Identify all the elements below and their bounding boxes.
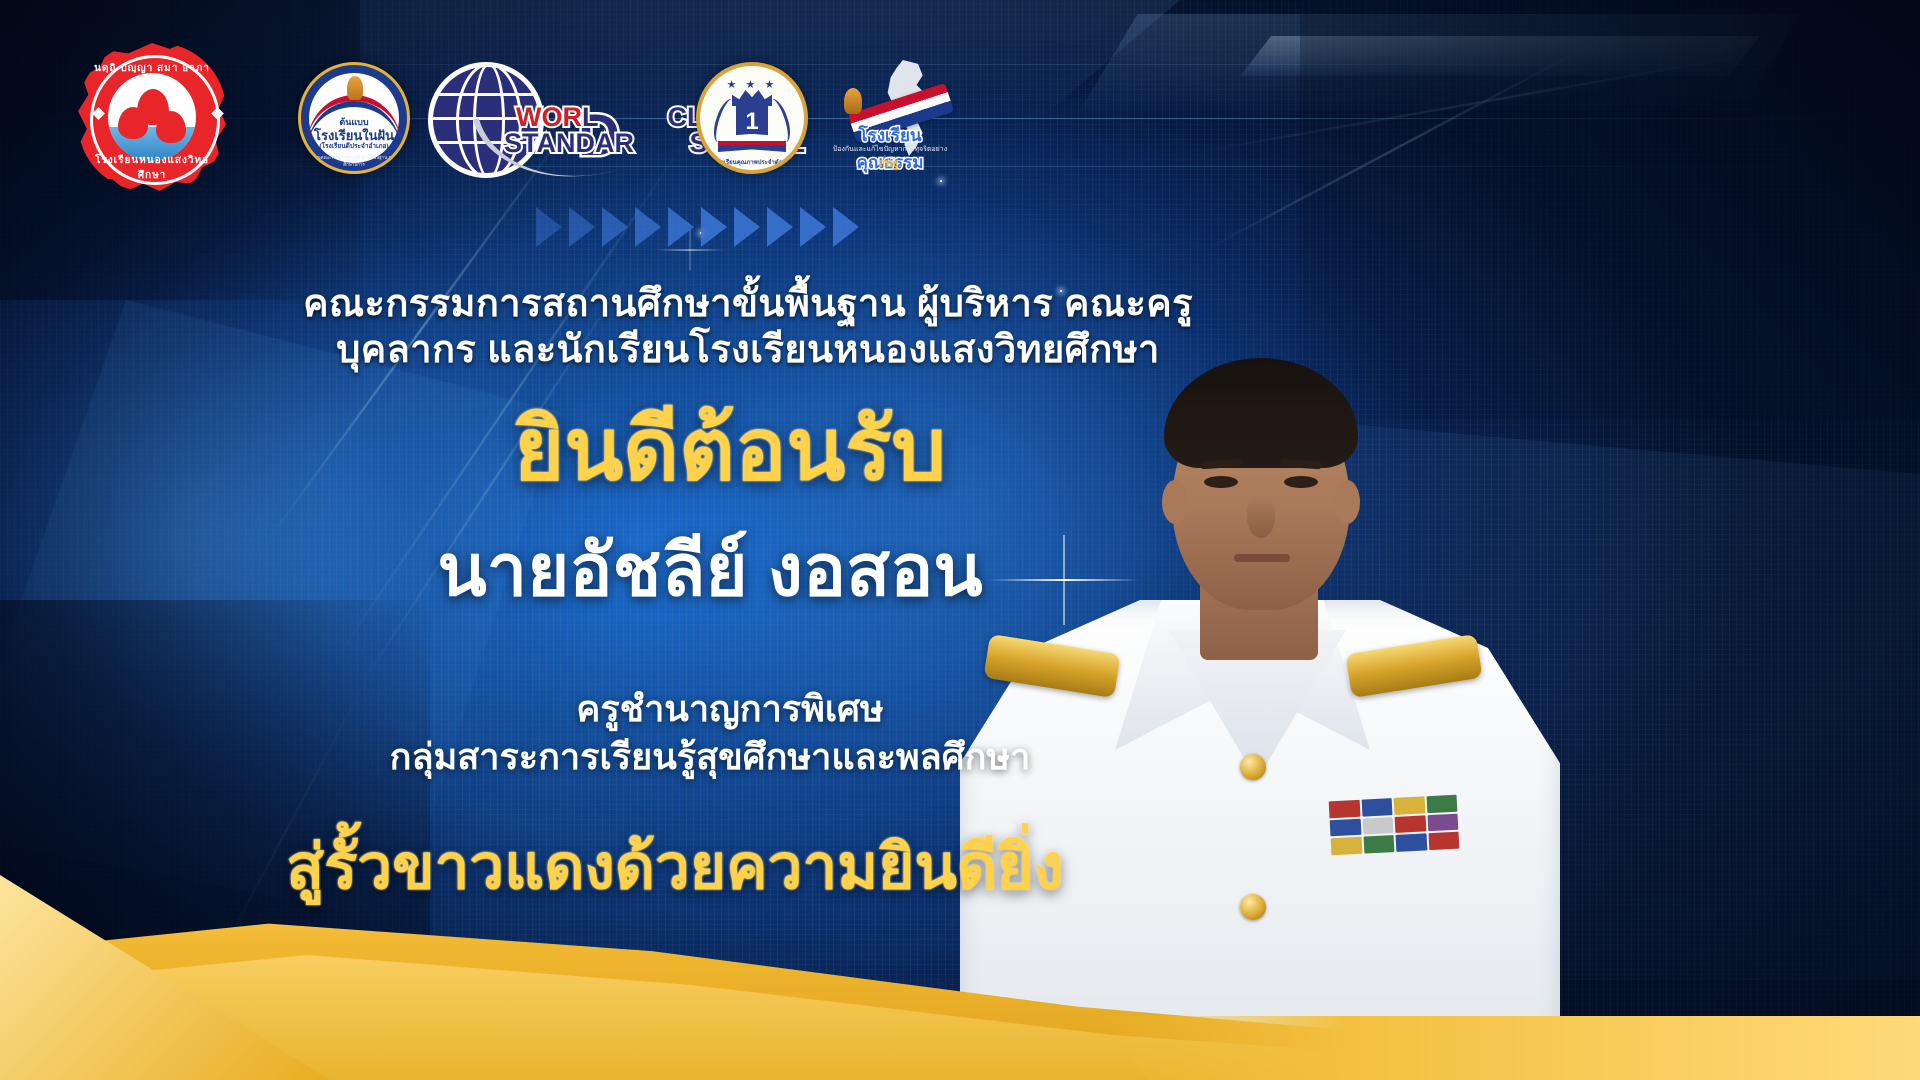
- chevron-right-icon: [833, 207, 859, 247]
- chevron-right-icon: [701, 207, 727, 247]
- welcome-title: ยินดีต้อนรับ: [200, 405, 1260, 495]
- royal-crest-icon: [347, 76, 363, 100]
- welcome-banner: นตฺถิ ปญฺญา สมา อาภา โรงเรียนหนองแสงวิทย…: [0, 0, 1920, 1080]
- logo-dream-school: ต้นแบบ โรงเรียนในฝัน (โรงเรียนดีประจำอำเ…: [298, 62, 410, 174]
- stars-icon: ★ ★ ★: [700, 78, 804, 91]
- logo-quality-school: ★ ★ ★ 1 โรงเรียนคุณภาพประจำตำบล: [696, 62, 808, 174]
- person-name: นายอัชลีย์ งอสอน: [180, 534, 1240, 610]
- chevron-right-icon: [569, 207, 595, 247]
- shield-numeral: 1: [736, 106, 768, 138]
- portrait-medal-ribbons: [1329, 795, 1460, 856]
- chevron-right-icon: [536, 207, 562, 247]
- quality-school-caption: โรงเรียนคุณภาพประจำตำบล: [700, 157, 804, 167]
- chevron-right-icon: [734, 207, 760, 247]
- header-line-2: บุคลากร และนักเรียนโรงเรียนหนองแสงวิทยศึ…: [218, 318, 1278, 379]
- logo-school-seal: นตฺถิ ปญฺญา สมา อาภา โรงเรียนหนองแสงวิทย…: [70, 43, 280, 193]
- moral-school-org: สพฐ.: [826, 154, 954, 172]
- portrait-ear-right: [1334, 480, 1360, 524]
- dream-school-circular-text: สำนักงานคณะกรรมการการศึกษาขั้นพื้นฐาน กร…: [301, 154, 407, 168]
- portrait-eye-right: [1284, 476, 1318, 488]
- chevron-right-icon: [767, 207, 793, 247]
- seal-inner-disc: [108, 73, 196, 161]
- portrait-uniform-button-top: [1240, 754, 1266, 780]
- dream-school-line3: (โรงเรียนดีประจำอำเภอ): [301, 141, 407, 151]
- chevron-right-icon: [602, 207, 628, 247]
- chevron-right-icon: [635, 207, 661, 247]
- globe-parallel: [429, 93, 535, 96]
- royal-crest-icon: [844, 88, 862, 114]
- seal-motto: นตฺถิ ปญฺญา สมา อาภา: [90, 61, 214, 76]
- lotus-icon: [156, 111, 186, 143]
- chevron-right-icon: [668, 207, 694, 247]
- logo-world-class-standard-school: D WORL CLASS STANDAR SCHOOL: [428, 58, 678, 178]
- logo-row: นตฺถิ ปญฺญา สมา อาภา โรงเรียนหนองแสงวิทย…: [70, 52, 954, 184]
- tagline: สู่รั้วขาวแดงด้วยความยินดียิ่ง: [130, 818, 1220, 916]
- book-icon: [718, 134, 786, 152]
- chevron-decoration-row: [536, 207, 859, 247]
- portrait-mouth: [1234, 554, 1290, 562]
- portrait-uniform-button-bottom: [1240, 894, 1266, 920]
- person-department: กลุ่มสาระการเรียนรู้สุขศึกษาและพลศึกษา: [180, 728, 1240, 785]
- seal-school-name: โรงเรียนหนองแสงวิทยศึกษา: [90, 153, 214, 183]
- portrait-nose: [1247, 496, 1275, 538]
- chevron-right-icon: [800, 207, 826, 247]
- logo-moral-school: โรงเรียนคุณธรรม ป้องกันและแก้ไขปัญหาการท…: [826, 58, 954, 178]
- crown-icon: [732, 90, 772, 106]
- gold-strip-bottom-right: [1100, 1016, 1920, 1080]
- wcs-word-standard: STANDAR: [504, 128, 634, 158]
